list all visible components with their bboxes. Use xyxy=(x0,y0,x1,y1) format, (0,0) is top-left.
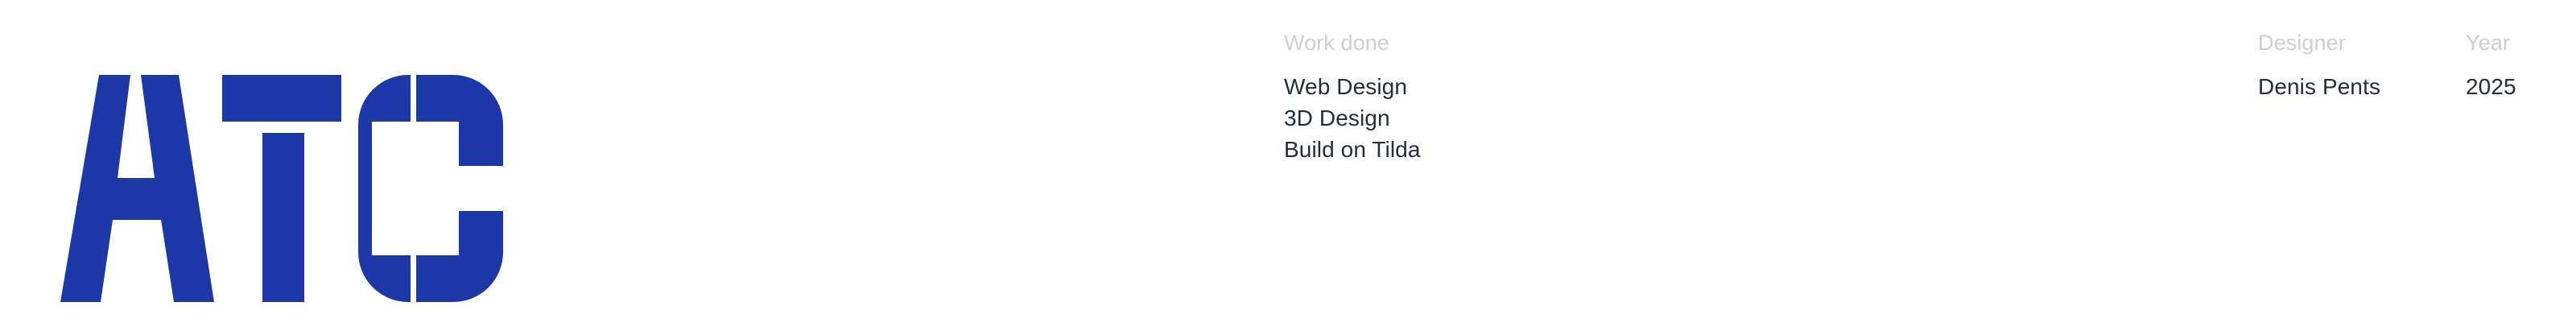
logo-letter-a-crossbar xyxy=(113,178,161,220)
project-credits-screen: Work done Web Design 3D Design Build on … xyxy=(0,0,2576,327)
list-item: Build on Tilda xyxy=(1284,134,2008,165)
logo-letter-c-arm-bottom xyxy=(416,211,503,302)
atc-logo-mark xyxy=(56,14,507,306)
logo-letter-t-stem xyxy=(262,133,304,302)
year-value: 2025 xyxy=(2466,71,2570,102)
logo-letter-c-left xyxy=(358,75,411,302)
logo-letter-t-bar xyxy=(222,75,341,122)
credits-table: Work done Web Design 3D Design Build on … xyxy=(1284,29,2516,158)
column-designer: Designer Denis Pents xyxy=(2258,29,2459,102)
designer-value: Denis Pents xyxy=(2258,71,2459,102)
column-header-designer: Designer xyxy=(2258,29,2459,56)
column-year: Year 2025 xyxy=(2466,29,2570,102)
column-header-year: Year xyxy=(2466,29,2570,56)
column-work-done: Work done Web Design 3D Design Build on … xyxy=(1284,29,2008,165)
list-item: 3D Design xyxy=(1284,102,2008,134)
work-done-list: Web Design 3D Design Build on Tilda xyxy=(1284,71,2008,165)
column-header-work-done: Work done xyxy=(1284,29,2008,56)
logo-letter-c-arm-top xyxy=(416,75,503,166)
list-item: Web Design xyxy=(1284,71,2008,102)
atc-logo[interactable] xyxy=(56,14,507,306)
